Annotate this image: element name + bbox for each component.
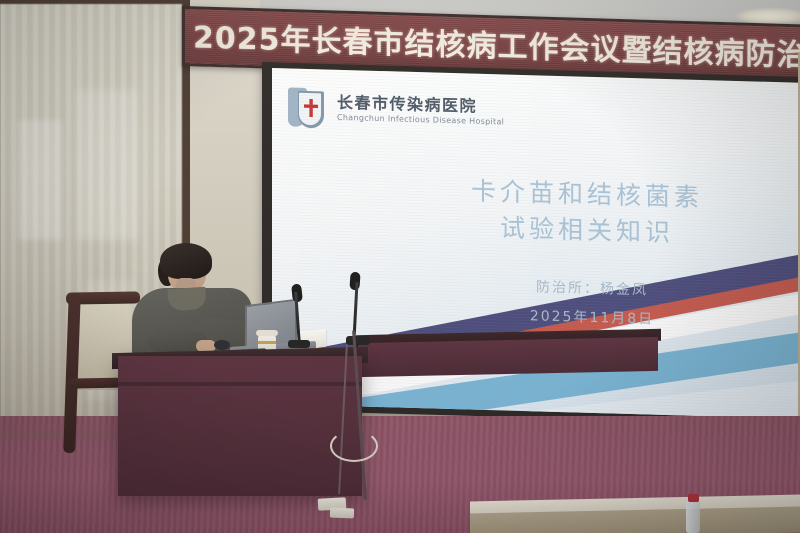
cable-loop <box>330 430 378 462</box>
floor-water-bottle-cap <box>688 494 699 502</box>
teacup-lid <box>256 330 278 336</box>
presenter-hair <box>160 243 212 279</box>
curtain-light-patch <box>18 120 62 240</box>
floor-water-bottle <box>686 500 700 533</box>
microphone-left-base <box>288 340 310 348</box>
microphone-right-base <box>346 336 370 345</box>
ceiling-light-fixture <box>736 8 800 24</box>
teacup-gold-band <box>258 341 276 344</box>
conference-room-photo: 2025年长春市结核病工作会议暨结核病防治培训会议 长春市传染病医院 <box>0 0 800 533</box>
podium-edge <box>118 382 362 386</box>
table-front <box>358 337 658 377</box>
podium <box>118 356 362 496</box>
power-strip <box>330 508 354 519</box>
curtain-light-patch <box>76 90 138 240</box>
mouse <box>214 340 230 350</box>
